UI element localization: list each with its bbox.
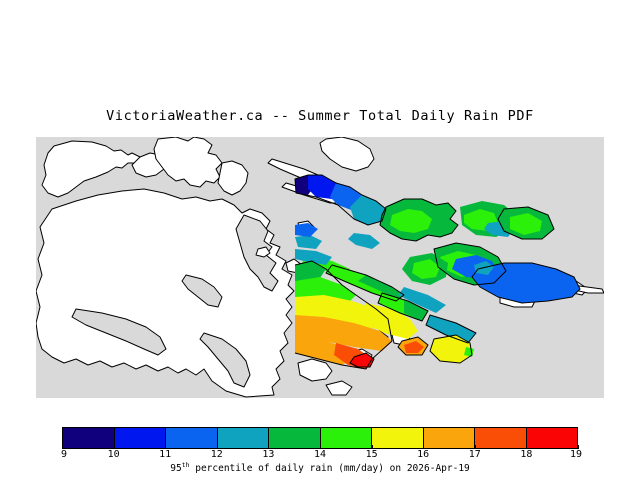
colorbar-band-10-11[interactable] <box>115 428 167 448</box>
colorbar-band-13-14[interactable] <box>269 428 321 448</box>
colorbar-tick-10: 19 <box>570 449 582 460</box>
colorbar-band-11-12[interactable] <box>166 428 218 448</box>
colorbar-tick-4: 13 <box>262 449 274 460</box>
colorbar-tick-3: 12 <box>211 449 223 460</box>
caption-rest: percentile of daily rain (mm/day) on 202… <box>190 463 470 474</box>
colorbar-tick-7: 16 <box>417 449 429 460</box>
colorbar-band-18-19[interactable] <box>527 428 578 448</box>
colorbar-band-14-15[interactable] <box>321 428 373 448</box>
colorbar-tick-2: 11 <box>159 449 171 460</box>
colorbar-band-17-18[interactable] <box>475 428 527 448</box>
colorbar-tick-1: 10 <box>108 449 120 460</box>
caption-prefix: 95 <box>170 463 181 474</box>
colorbar-tick-0: 9 <box>61 449 67 460</box>
map-svg <box>36 137 604 398</box>
colorbar-tick-5: 14 <box>314 449 326 460</box>
colorbar-tick-6: 15 <box>366 449 378 460</box>
colorbar-band-9-10[interactable] <box>63 428 115 448</box>
caption-superscript: th <box>182 461 190 469</box>
page-title: VictoriaWeather.ca -- Summer Total Daily… <box>0 108 640 124</box>
colorbar-caption: 95th percentile of daily rain (mm/day) o… <box>0 461 640 474</box>
colorbar-band-12-13[interactable] <box>218 428 270 448</box>
colorbar-band-16-17[interactable] <box>424 428 476 448</box>
colorbar-tick-9: 18 <box>520 449 532 460</box>
map-canvas <box>36 137 604 398</box>
colorbar-tick-8: 17 <box>469 449 481 460</box>
weather-map-page: VictoriaWeather.ca -- Summer Total Daily… <box>0 0 640 480</box>
colorbar-band-15-16[interactable] <box>372 428 424 448</box>
